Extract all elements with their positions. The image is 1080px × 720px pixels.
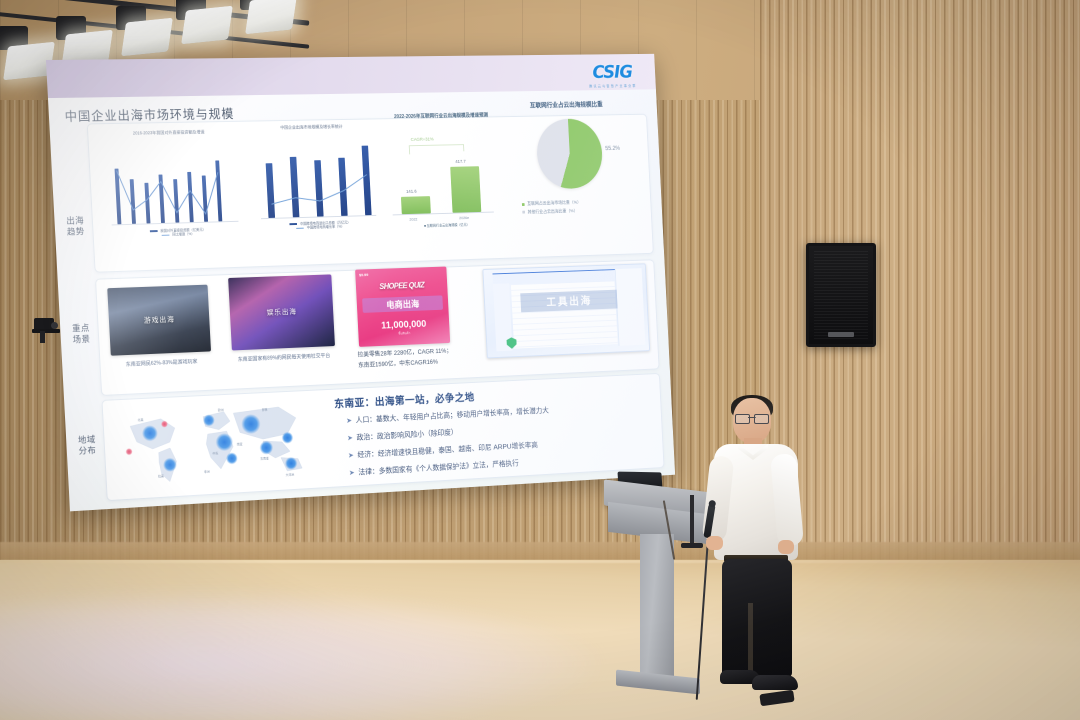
presenter	[700, 398, 812, 700]
map-label: 日韩	[261, 408, 267, 412]
world-map: 北美 欧洲 中东 日韩 东南亚 南亚 拉美 非洲 大洋洲	[117, 396, 312, 494]
map-label: 中东	[212, 451, 218, 455]
logo-subtext: 腾讯云与智慧产业事业群	[589, 83, 637, 88]
legend-swatch-green	[522, 203, 525, 206]
chart3-cagr: CAGR=31%	[411, 137, 434, 142]
chevron-right-icon: ➤	[349, 468, 355, 477]
map-label: 拉美	[158, 474, 164, 478]
chart1-legend-2: 同比增速（%）	[172, 232, 195, 237]
chart4-legend-item: 其他行业占云出海比重（%）	[522, 208, 581, 215]
glasses-icon	[735, 414, 769, 422]
row-label-scenes: 重点场景	[68, 323, 95, 345]
lectern	[604, 486, 712, 701]
chart3-bar-2022	[401, 196, 431, 214]
chart4-legend-1: 互联网占云出海市场比重（%）	[527, 200, 581, 207]
map-label: 南亚	[237, 442, 243, 446]
tool-ui-rightpanel	[615, 268, 646, 346]
row-label-trends: 出海趋势	[62, 215, 89, 237]
map-label: 北美	[137, 418, 143, 422]
chart3-bar-2026	[450, 166, 481, 213]
slide-canvas: 中国企业出海市场环境与规模 出海趋势 2016-2023年我国对外直接投资额及增…	[48, 89, 675, 511]
map-label: 东南亚	[260, 456, 269, 460]
presenter-leg-gap	[748, 603, 753, 677]
csig-logo: CSIG 腾讯云与智慧产业事业群	[588, 62, 637, 89]
auditorium-scene: CSIG 腾讯云与智慧产业事业群 中国企业出海市场环境与规模 出海趋势 2016…	[0, 0, 1080, 720]
chevron-right-icon: ➤	[346, 416, 352, 425]
projection-screen: CSIG 腾讯云与智慧产业事业群 中国企业出海市场环境与规模 出海趋势 2016…	[46, 54, 675, 512]
presenter-trousers	[722, 559, 792, 677]
tool-overlay-text: 工具出海	[520, 290, 617, 313]
chevron-right-icon: ➤	[348, 451, 354, 460]
stage-light	[181, 6, 233, 45]
chart4-legend: 互联网占云出海市场比重（%） 其他行业占云出海比重（%）	[522, 200, 582, 218]
floor-wall-joint	[0, 560, 1080, 563]
chart3-value-2: 417.7	[455, 159, 466, 164]
map-label: 大洋洲	[286, 472, 295, 476]
presenter-hand-right	[778, 540, 794, 554]
chart3-value-1: 141.6	[406, 189, 417, 194]
chart3-cagr-bracket	[407, 142, 466, 157]
wall-speaker	[806, 243, 876, 347]
scene-overlay-entertainment: 娱乐出海	[230, 305, 334, 319]
stage-light	[245, 0, 297, 34]
lectern-column	[640, 534, 674, 682]
presenter-hand-left	[706, 536, 723, 550]
stage-light	[121, 18, 173, 57]
chart1-trend-line	[108, 150, 242, 226]
scene-image-ecommerce: $9.99 SHOPEE QUIZ 电商出海 11,000,000 ชิ้นสิ…	[355, 267, 450, 347]
chart4-legend-2: 其他行业占云出海比重（%）	[528, 208, 578, 215]
logo-text: CSIG	[588, 62, 637, 83]
chart3-tick-2026: 2026e	[459, 215, 469, 220]
floor-light-reflection	[0, 590, 600, 720]
wall-camera	[32, 318, 62, 342]
world-map-outline	[117, 396, 312, 494]
chart4-title: 互联网行业占云出海规模比重	[504, 101, 627, 111]
microphone-stand	[690, 495, 694, 545]
scene-image-gaming: 游戏出海	[107, 285, 211, 356]
map-label: 欧洲	[218, 408, 224, 412]
shopee-price-tag: $9.99	[359, 272, 368, 277]
map-label: 非洲	[204, 469, 210, 473]
scene-overlay-gaming: 游戏出海	[109, 313, 210, 327]
legend-swatch-gray	[522, 211, 525, 214]
chart3-tick-2022: 2022	[409, 217, 417, 222]
chart4-legend-item: 互联网占云出海市场比重（%）	[522, 200, 581, 207]
chevron-right-icon: ➤	[347, 433, 353, 442]
chart4-value-label: 55.2%	[605, 146, 620, 152]
row-label-region: 地域分布	[74, 434, 101, 456]
lectern-base	[616, 670, 700, 695]
scene-image-tools: 工具出海	[482, 263, 650, 358]
scene-image-entertainment: 娱乐出海	[228, 274, 335, 350]
shopee-overlay-text: 电商出海	[362, 295, 443, 313]
chart2-trend-line	[257, 142, 380, 221]
shopee-brand: SHOPEE QUIZ	[356, 280, 448, 292]
presenter-shoe-right	[752, 675, 798, 690]
